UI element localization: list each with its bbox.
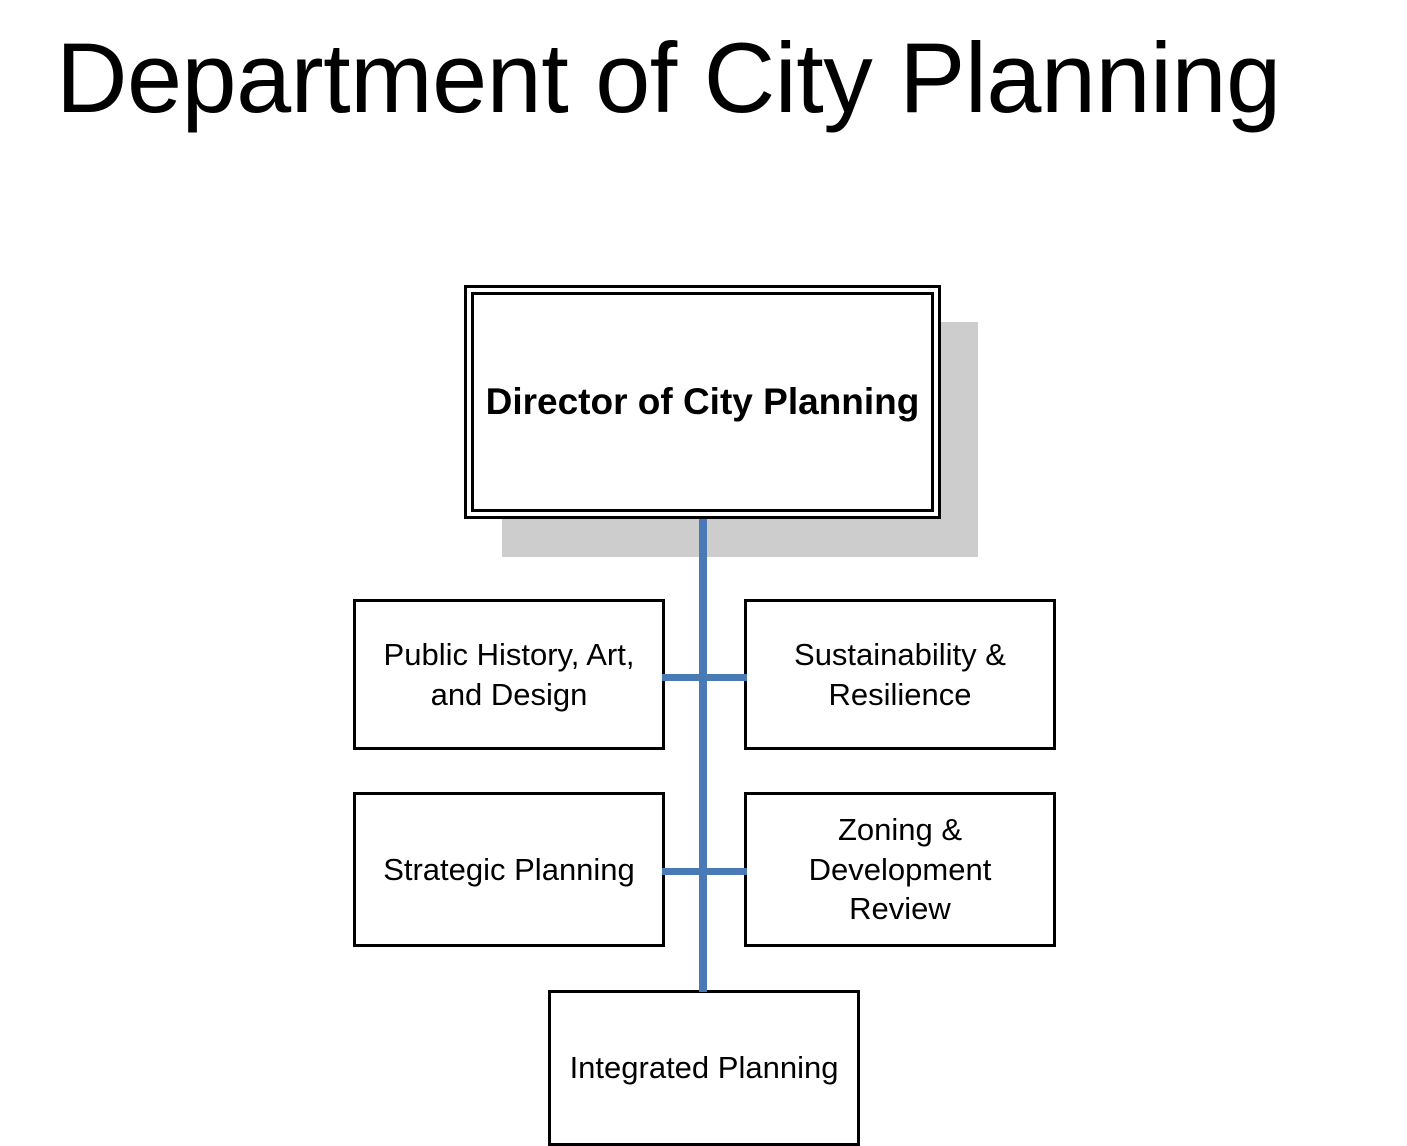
node-label-sustainability-and-resilience: Sustainability & Resilience	[747, 635, 1053, 714]
node-strategic-planning[interactable]: Strategic Planning	[353, 792, 665, 947]
connector-horizontal-row1-left	[662, 674, 704, 681]
connector-vertical-trunk	[699, 519, 707, 992]
page-title: Department of City Planning	[56, 26, 1376, 130]
connector-horizontal-row1-right	[702, 674, 747, 681]
node-label-strategic-planning: Strategic Planning	[373, 850, 645, 890]
node-label-public-history-art-and-design: Public History, Art, and Design	[356, 635, 662, 714]
node-root-inner-frame: Director of City Planning	[471, 292, 934, 512]
connector-horizontal-row2-right	[702, 868, 747, 875]
node-sustainability-and-resilience[interactable]: Sustainability & Resilience	[744, 599, 1056, 750]
node-zoning-and-development-review[interactable]: Zoning & Development Review	[744, 792, 1056, 947]
node-label-zoning-and-development-review: Zoning & Development Review	[747, 810, 1053, 929]
node-integrated-planning[interactable]: Integrated Planning	[548, 990, 860, 1146]
node-label-director-of-city-planning: Director of City Planning	[476, 379, 930, 425]
connector-horizontal-row2-left	[662, 868, 704, 875]
node-public-history-art-and-design[interactable]: Public History, Art, and Design	[353, 599, 665, 750]
org-chart-slide: Department of City Planning Director of …	[0, 0, 1407, 1146]
node-label-integrated-planning: Integrated Planning	[560, 1048, 849, 1088]
node-director-of-city-planning[interactable]: Director of City Planning	[464, 285, 941, 519]
